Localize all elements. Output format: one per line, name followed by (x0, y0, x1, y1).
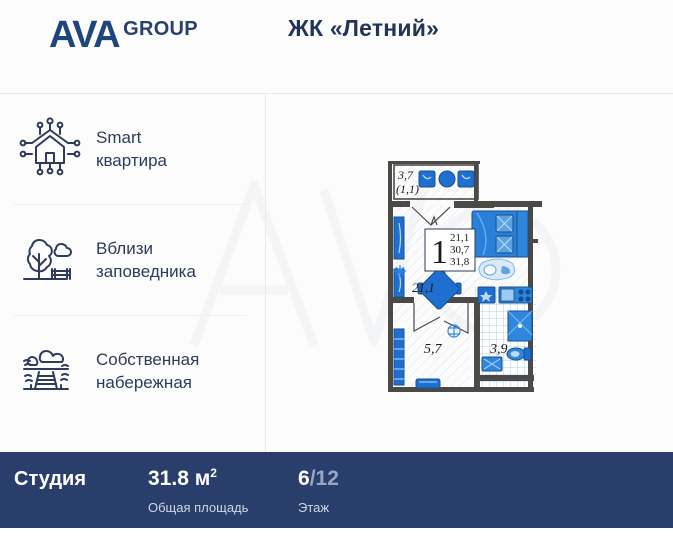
feature-label: Smartквартира (96, 126, 167, 172)
total-area-unit: м (195, 467, 211, 490)
complex-title: ЖК «Летний» (288, 15, 439, 42)
feature-label: Собственнаянабережная (96, 348, 199, 394)
summary-footer: Студия 31.8 м2 Общая площадь 6/12 Этаж (0, 452, 673, 528)
svg-text:3,9: 3,9 (489, 342, 508, 357)
feature-item-nature-reserve: Вблизизаповедника (0, 204, 265, 315)
feature-label: Вблизизаповедника (96, 237, 196, 283)
floor-value: 6/12 (298, 466, 448, 492)
svg-text:21,1: 21,1 (412, 280, 435, 295)
total-area-value: 31.8 м2 (148, 466, 298, 492)
apartment-listing-card: AVA GROUP ЖК «Летний» (0, 0, 673, 540)
svg-text:21,1: 21,1 (450, 232, 469, 244)
floor-caption: Этаж (298, 500, 448, 516)
feature-item-smart-apartment: Smartквартира (0, 93, 265, 204)
card-header: AVA GROUP ЖК «Летний» (0, 0, 673, 93)
smart-home-icon (14, 113, 86, 185)
brand-logo-ava: AVA (49, 16, 119, 54)
total-area-caption: Общая площадь (148, 500, 298, 516)
floor-total: 12 (316, 467, 339, 490)
svg-text:30,7: 30,7 (450, 244, 470, 256)
floor-block: 6/12 Этаж (298, 466, 448, 516)
svg-text:1: 1 (431, 234, 448, 271)
brand-logo[interactable]: AVA GROUP (49, 16, 198, 54)
feature-item-embankment: Собственнаянабережная (0, 315, 265, 426)
features-list: Smartквартира Вблизизаповедника (0, 93, 265, 452)
floor-current: 6 (298, 467, 310, 490)
apartment-type: Студия (14, 466, 124, 492)
total-area-number: 31.8 (148, 467, 189, 490)
svg-text:31,8: 31,8 (450, 256, 470, 268)
waterfront-icon (14, 335, 86, 407)
brand-logo-group: GROUP (123, 19, 198, 39)
svg-text:3,7: 3,7 (397, 168, 414, 182)
floor-plan-container[interactable]: 3,7 (1,1) 21,1 5,7 3,9 1 21,1 30,7 31,8 (265, 93, 673, 452)
svg-text:(1,1): (1,1) (396, 182, 419, 196)
total-area-superscript: 2 (210, 466, 217, 480)
bottom-spacer (0, 528, 673, 540)
nature-park-icon (14, 224, 86, 296)
total-area-block: 31.8 м2 Общая площадь (148, 466, 298, 516)
svg-text:5,7: 5,7 (424, 342, 443, 357)
floor-plan: 3,7 (1,1) 21,1 5,7 3,9 1 21,1 30,7 31,8 (378, 151, 560, 395)
